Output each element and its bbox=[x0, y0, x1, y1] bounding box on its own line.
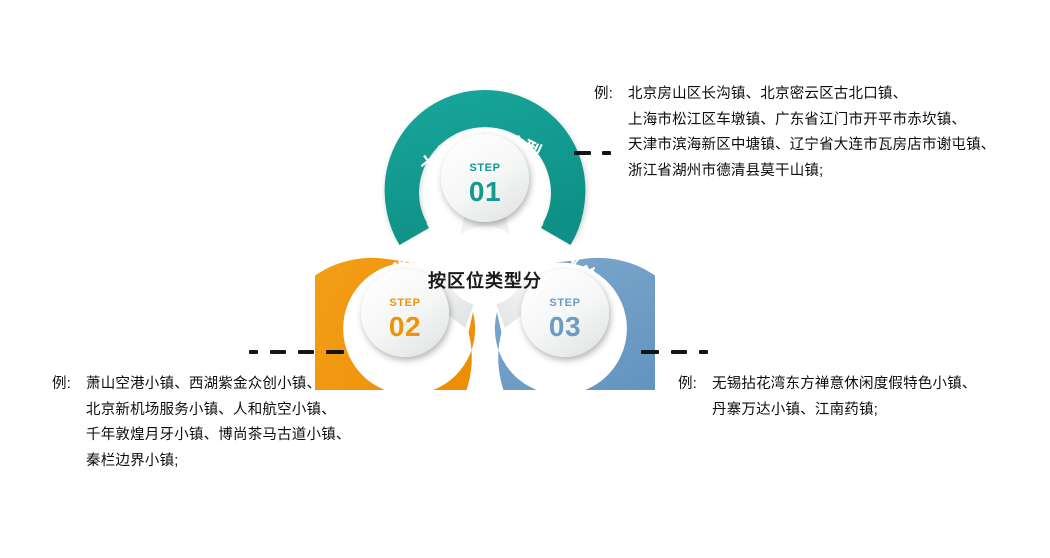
example-line-text: 北京新机场服务小镇、人和航空小镇、 bbox=[86, 402, 336, 418]
example-line: 千年敦煌月牙小镇、博尚茶马古道小镇、 bbox=[52, 423, 351, 449]
dash-segment bbox=[641, 350, 659, 354]
dash-segment bbox=[699, 350, 708, 354]
step-word-02: STEP bbox=[389, 297, 420, 309]
step-word-03: STEP bbox=[549, 297, 580, 309]
example-line-text: 丹寨万达小镇、江南药镇; bbox=[712, 402, 878, 418]
connector-dashes-bottom-left bbox=[249, 350, 344, 354]
example-line-text: 北京房山区长沟镇、北京密云区古北口镇、 bbox=[628, 86, 907, 102]
example-line: 例:萧山空港小镇、西湖紫金众创小镇、 bbox=[52, 372, 351, 398]
example-line-text: 上海市松江区车墩镇、广东省江门市开平市赤坎镇、 bbox=[628, 112, 966, 128]
example-text-step-03: 例:无锡拈花湾东方禅意休闲度假特色小镇、 丹寨万达小镇、江南药镇; bbox=[678, 372, 977, 423]
example-line: 例:北京房山区长沟镇、北京密云区古北口镇、 bbox=[594, 82, 996, 108]
dash-segment bbox=[270, 350, 286, 354]
example-line: 丹寨万达小镇、江南药镇; bbox=[678, 398, 977, 424]
step-number-03: 03 bbox=[549, 311, 581, 342]
example-label: 例: bbox=[678, 372, 712, 398]
example-line: 浙江省湖州市德清县莫干山镇; bbox=[594, 159, 996, 185]
step-number-02: 02 bbox=[389, 311, 421, 342]
example-line: 上海市松江区车墩镇、广东省江门市开平市赤坎镇、 bbox=[594, 108, 996, 134]
dash-segment bbox=[574, 151, 591, 155]
example-line-text: 天津市滨海新区中塘镇、辽宁省大连市瓦房店市谢屯镇、 bbox=[628, 137, 996, 153]
example-line-text: 无锡拈花湾东方禅意休闲度假特色小镇、 bbox=[712, 376, 977, 392]
example-line: 秦栏边界小镇; bbox=[52, 449, 351, 475]
dash-segment bbox=[326, 350, 344, 354]
example-line: 例:无锡拈花湾东方禅意休闲度假特色小镇、 bbox=[678, 372, 977, 398]
example-line: 北京新机场服务小镇、人和航空小镇、 bbox=[52, 398, 351, 424]
example-line: 天津市滨海新区中塘镇、辽宁省大连市瓦房店市谢屯镇、 bbox=[594, 133, 996, 159]
step-disc-01[interactable]: STEP 01 bbox=[441, 134, 529, 222]
example-line-text: 千年敦煌月牙小镇、博尚茶马古道小镇、 bbox=[86, 427, 351, 443]
dash-segment bbox=[249, 350, 258, 354]
example-text-step-02: 例:萧山空港小镇、西湖紫金众创小镇、 北京新机场服务小镇、人和航空小镇、 千年敦… bbox=[52, 372, 351, 474]
example-label: 例: bbox=[594, 82, 628, 108]
example-line-text: 萧山空港小镇、西湖紫金众创小镇、 bbox=[86, 376, 321, 392]
dash-segment bbox=[671, 350, 687, 354]
center-label: 按区位类型分 bbox=[428, 270, 542, 291]
example-line-text: 秦栏边界小镇; bbox=[86, 453, 178, 469]
step-number-01: 01 bbox=[469, 176, 501, 207]
example-label: 例: bbox=[52, 372, 86, 398]
example-text-step-01: 例:北京房山区长沟镇、北京密云区古北口镇、 上海市松江区车墩镇、广东省江门市开平… bbox=[594, 82, 996, 184]
dash-segment bbox=[298, 350, 314, 354]
step-word-01: STEP bbox=[469, 162, 500, 174]
example-line-text: 浙江省湖州市德清县莫干山镇; bbox=[628, 163, 823, 179]
connector-dashes-bottom-right bbox=[641, 350, 708, 354]
